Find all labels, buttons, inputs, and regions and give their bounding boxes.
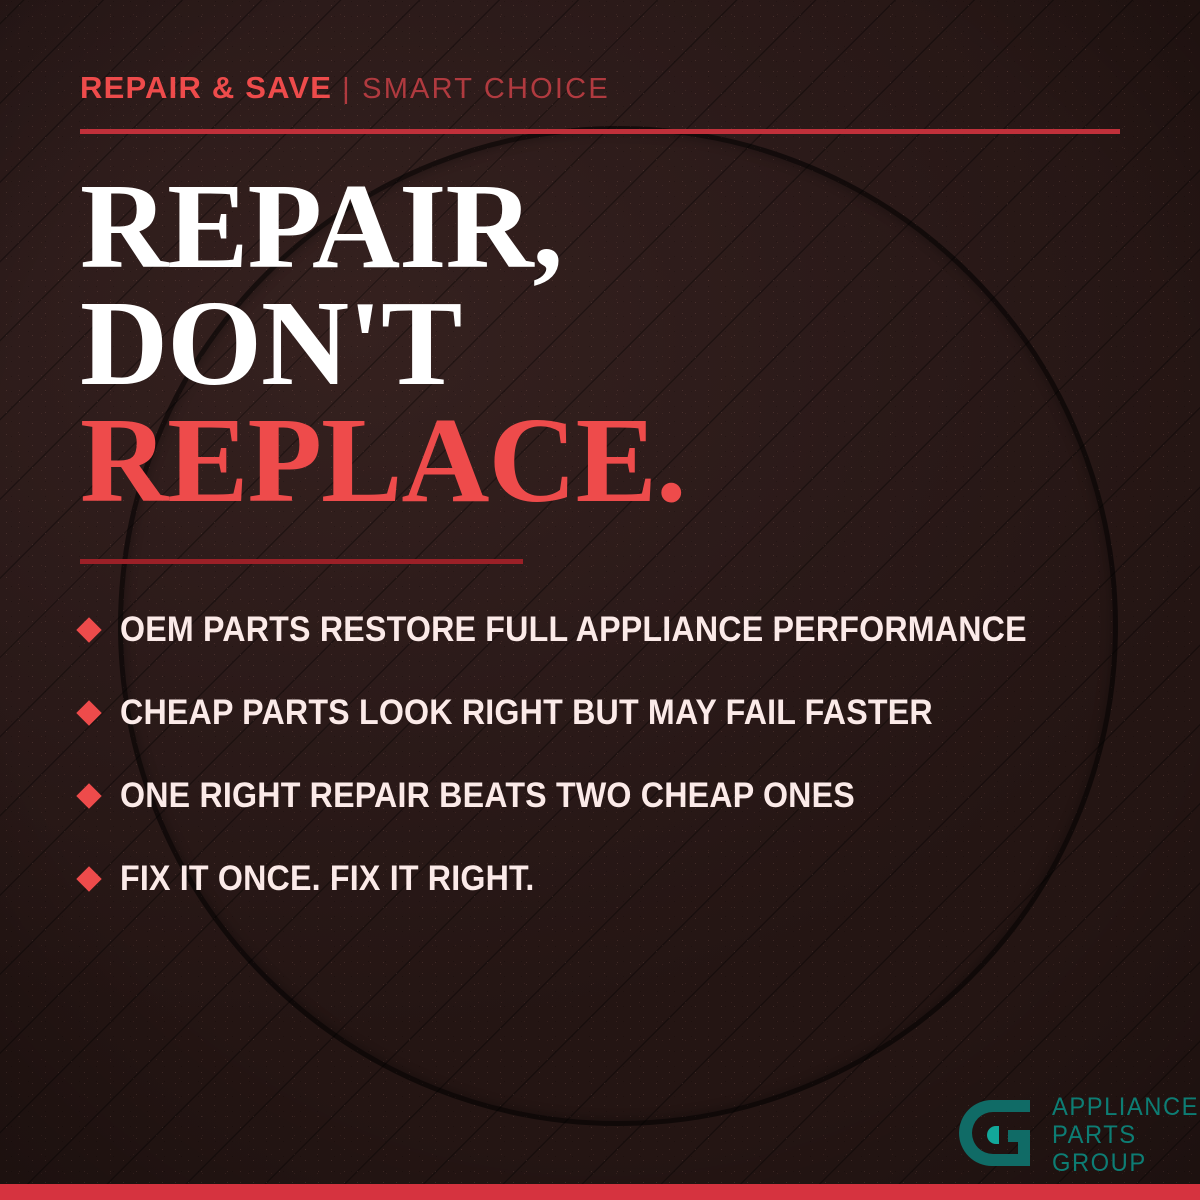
eyebrow-main-label: REPAIR & SAVE [80,70,332,105]
list-item-label: FIX IT ONCE. FIX IT RIGHT. [120,859,534,899]
list-item-label: ONE RIGHT REPAIR BEATS TWO CHEAP ONES [120,776,855,816]
list-item-label: CHEAP PARTS LOOK RIGHT BUT MAY FAIL FAST… [120,693,933,733]
page-title: REPAIR, DON'T REPLACE. [80,168,685,519]
brand-logo-line-1: APPLIANCE [1052,1093,1199,1121]
benefits-list: OEM PARTS RESTORE FULL APPLIANCE PERFORM… [80,588,1150,920]
brand-logo-line-2: PARTS [1052,1121,1199,1149]
list-item: FIX IT ONCE. FIX IT RIGHT. [80,837,1150,920]
diamond-bullet-icon [76,783,101,808]
headline-underline-rule [80,559,523,564]
poster-content: REPAIR & SAVE| SMART CHOICE REPAIR, DON'… [0,0,1200,1200]
brand-logo-wordmark: APPLIANCE PARTS GROUP [1052,1093,1200,1177]
eyebrow-sub-label: | SMART CHOICE [342,73,610,105]
brand-logo: APPLIANCE PARTS GROUP [952,1092,1200,1178]
headline-line-3: REPLACE. [80,402,685,519]
list-item: ONE RIGHT REPAIR BEATS TWO CHEAP ONES [80,754,1150,837]
eyebrow: REPAIR & SAVE| SMART CHOICE [80,72,610,104]
diamond-bullet-icon [76,700,101,725]
diamond-bullet-icon [76,866,101,891]
list-item: OEM PARTS RESTORE FULL APPLIANCE PERFORM… [80,588,1150,671]
promo-poster: REPAIR & SAVE| SMART CHOICE REPAIR, DON'… [0,0,1200,1200]
list-item-label: OEM PARTS RESTORE FULL APPLIANCE PERFORM… [120,610,1027,650]
headline-line-1: REPAIR, [80,168,685,285]
list-item: CHEAP PARTS LOOK RIGHT BUT MAY FAIL FAST… [80,671,1150,754]
header-divider-rule [80,129,1120,134]
brand-logo-line-3: GROUP [1052,1149,1199,1177]
appliance-parts-group-g-mark-icon [952,1092,1038,1178]
diamond-bullet-icon [76,617,101,642]
footer-accent-bar [0,1184,1200,1200]
headline-line-2: DON'T [80,285,685,402]
